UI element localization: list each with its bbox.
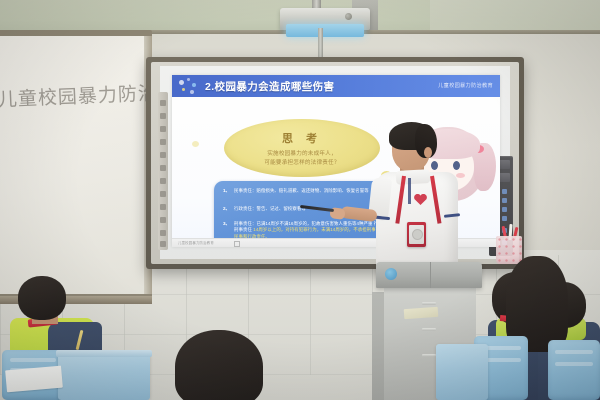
- classroom-photo-scene: 儿童校园暴力防治教育: [0, 0, 600, 400]
- keypad-button-4[interactable]: [502, 198, 507, 203]
- projector-lens: [286, 24, 364, 37]
- whiteboard-handwriting: 儿童校园暴力防治教育: [0, 79, 145, 119]
- desk-front-left: [58, 352, 150, 400]
- slide-page-marker: [234, 241, 240, 247]
- eraser-icon[interactable]: [160, 113, 166, 119]
- smartboard-toolbar[interactable]: [158, 92, 168, 250]
- bubble-dot-left: [192, 141, 199, 147]
- lectern-top-seam: [430, 262, 431, 288]
- pen-cup-body: [496, 236, 522, 264]
- thought-bubble: 思 考 实施校园暴力的未成年人， 可能要承担怎样的法律责任？: [224, 119, 380, 177]
- presenter-ear: [424, 147, 432, 158]
- list-item-3-label: 刑事责任：: [234, 221, 256, 226]
- slide-status-text: 儿童校园暴力防治教育: [178, 240, 214, 245]
- heart-logo-icon: [414, 194, 427, 207]
- thought-bubble-line-2: 可能要承担怎样的法律责任？: [224, 158, 380, 166]
- redo-icon[interactable]: [160, 165, 166, 171]
- shapes-icon[interactable]: [160, 126, 166, 132]
- pen-icon[interactable]: [160, 100, 166, 106]
- heart-shape: [414, 194, 427, 205]
- list-item-2-number: 2、: [223, 206, 230, 212]
- cartoon-eye-left: [431, 161, 438, 170]
- desk-right: [436, 344, 488, 400]
- select-icon[interactable]: [160, 139, 166, 145]
- keypad-button-2[interactable]: [502, 189, 507, 194]
- text-icon[interactable]: [160, 178, 166, 184]
- slide-title: 2.校园暴力会造成哪些伤害: [205, 79, 334, 94]
- lectern-handle-1[interactable]: [422, 302, 436, 305]
- list-item-1-label: 民事责任：: [234, 188, 256, 193]
- chair-right-2: [548, 340, 600, 400]
- list-item-1-number: 1、: [223, 188, 230, 194]
- slide-header-bar: 2.校园暴力会造成哪些伤害 儿童校园暴力防治教育: [172, 75, 500, 97]
- id-badge: [407, 222, 426, 247]
- school-crest-icon: [385, 268, 397, 280]
- id-badge-photo: [412, 229, 423, 240]
- list-item-2-body: 警告、记过、留校察看等: [256, 206, 305, 211]
- presenter-placket: [408, 178, 411, 204]
- sparkle-decoration-icon: [177, 78, 201, 95]
- list-item-1-body: 赔偿损失、赔礼道歉、返还财物、消除影响、恢复名誉等: [256, 188, 368, 193]
- whiteboard-surface: [0, 36, 148, 294]
- settings-icon[interactable]: [160, 230, 166, 236]
- projector-focus-knob: [345, 13, 352, 20]
- pen-cup-pattern: [496, 236, 522, 264]
- keypad-button-8[interactable]: [502, 216, 507, 221]
- cartoon-blush-right: [456, 173, 465, 178]
- cartoon-eye-right: [453, 161, 460, 170]
- list-item-2-label: 行政责任：: [234, 206, 256, 211]
- projector-pole: [318, 28, 323, 58]
- keypad-button-6[interactable]: [502, 207, 507, 212]
- power-icon[interactable]: [160, 241, 166, 247]
- student-center-head: [175, 330, 263, 400]
- student-front-left-head: [18, 276, 66, 320]
- desk-front-left-edge: [56, 350, 152, 357]
- undo-icon[interactable]: [160, 152, 166, 158]
- thought-bubble-heading: 思 考: [224, 130, 380, 146]
- list-item-3-number: 3、: [223, 221, 230, 227]
- lectern-handle-2[interactable]: [422, 328, 436, 331]
- lectern-handle-3[interactable]: [422, 354, 436, 357]
- grid-icon[interactable]: [160, 204, 166, 210]
- thought-bubble-line-1: 实施校园暴力的未成年人，: [224, 149, 380, 157]
- image-icon[interactable]: [160, 191, 166, 197]
- slide-header-subtitle: 儿童校园暴力防治教育: [438, 82, 493, 89]
- zoom-icon[interactable]: [160, 217, 166, 223]
